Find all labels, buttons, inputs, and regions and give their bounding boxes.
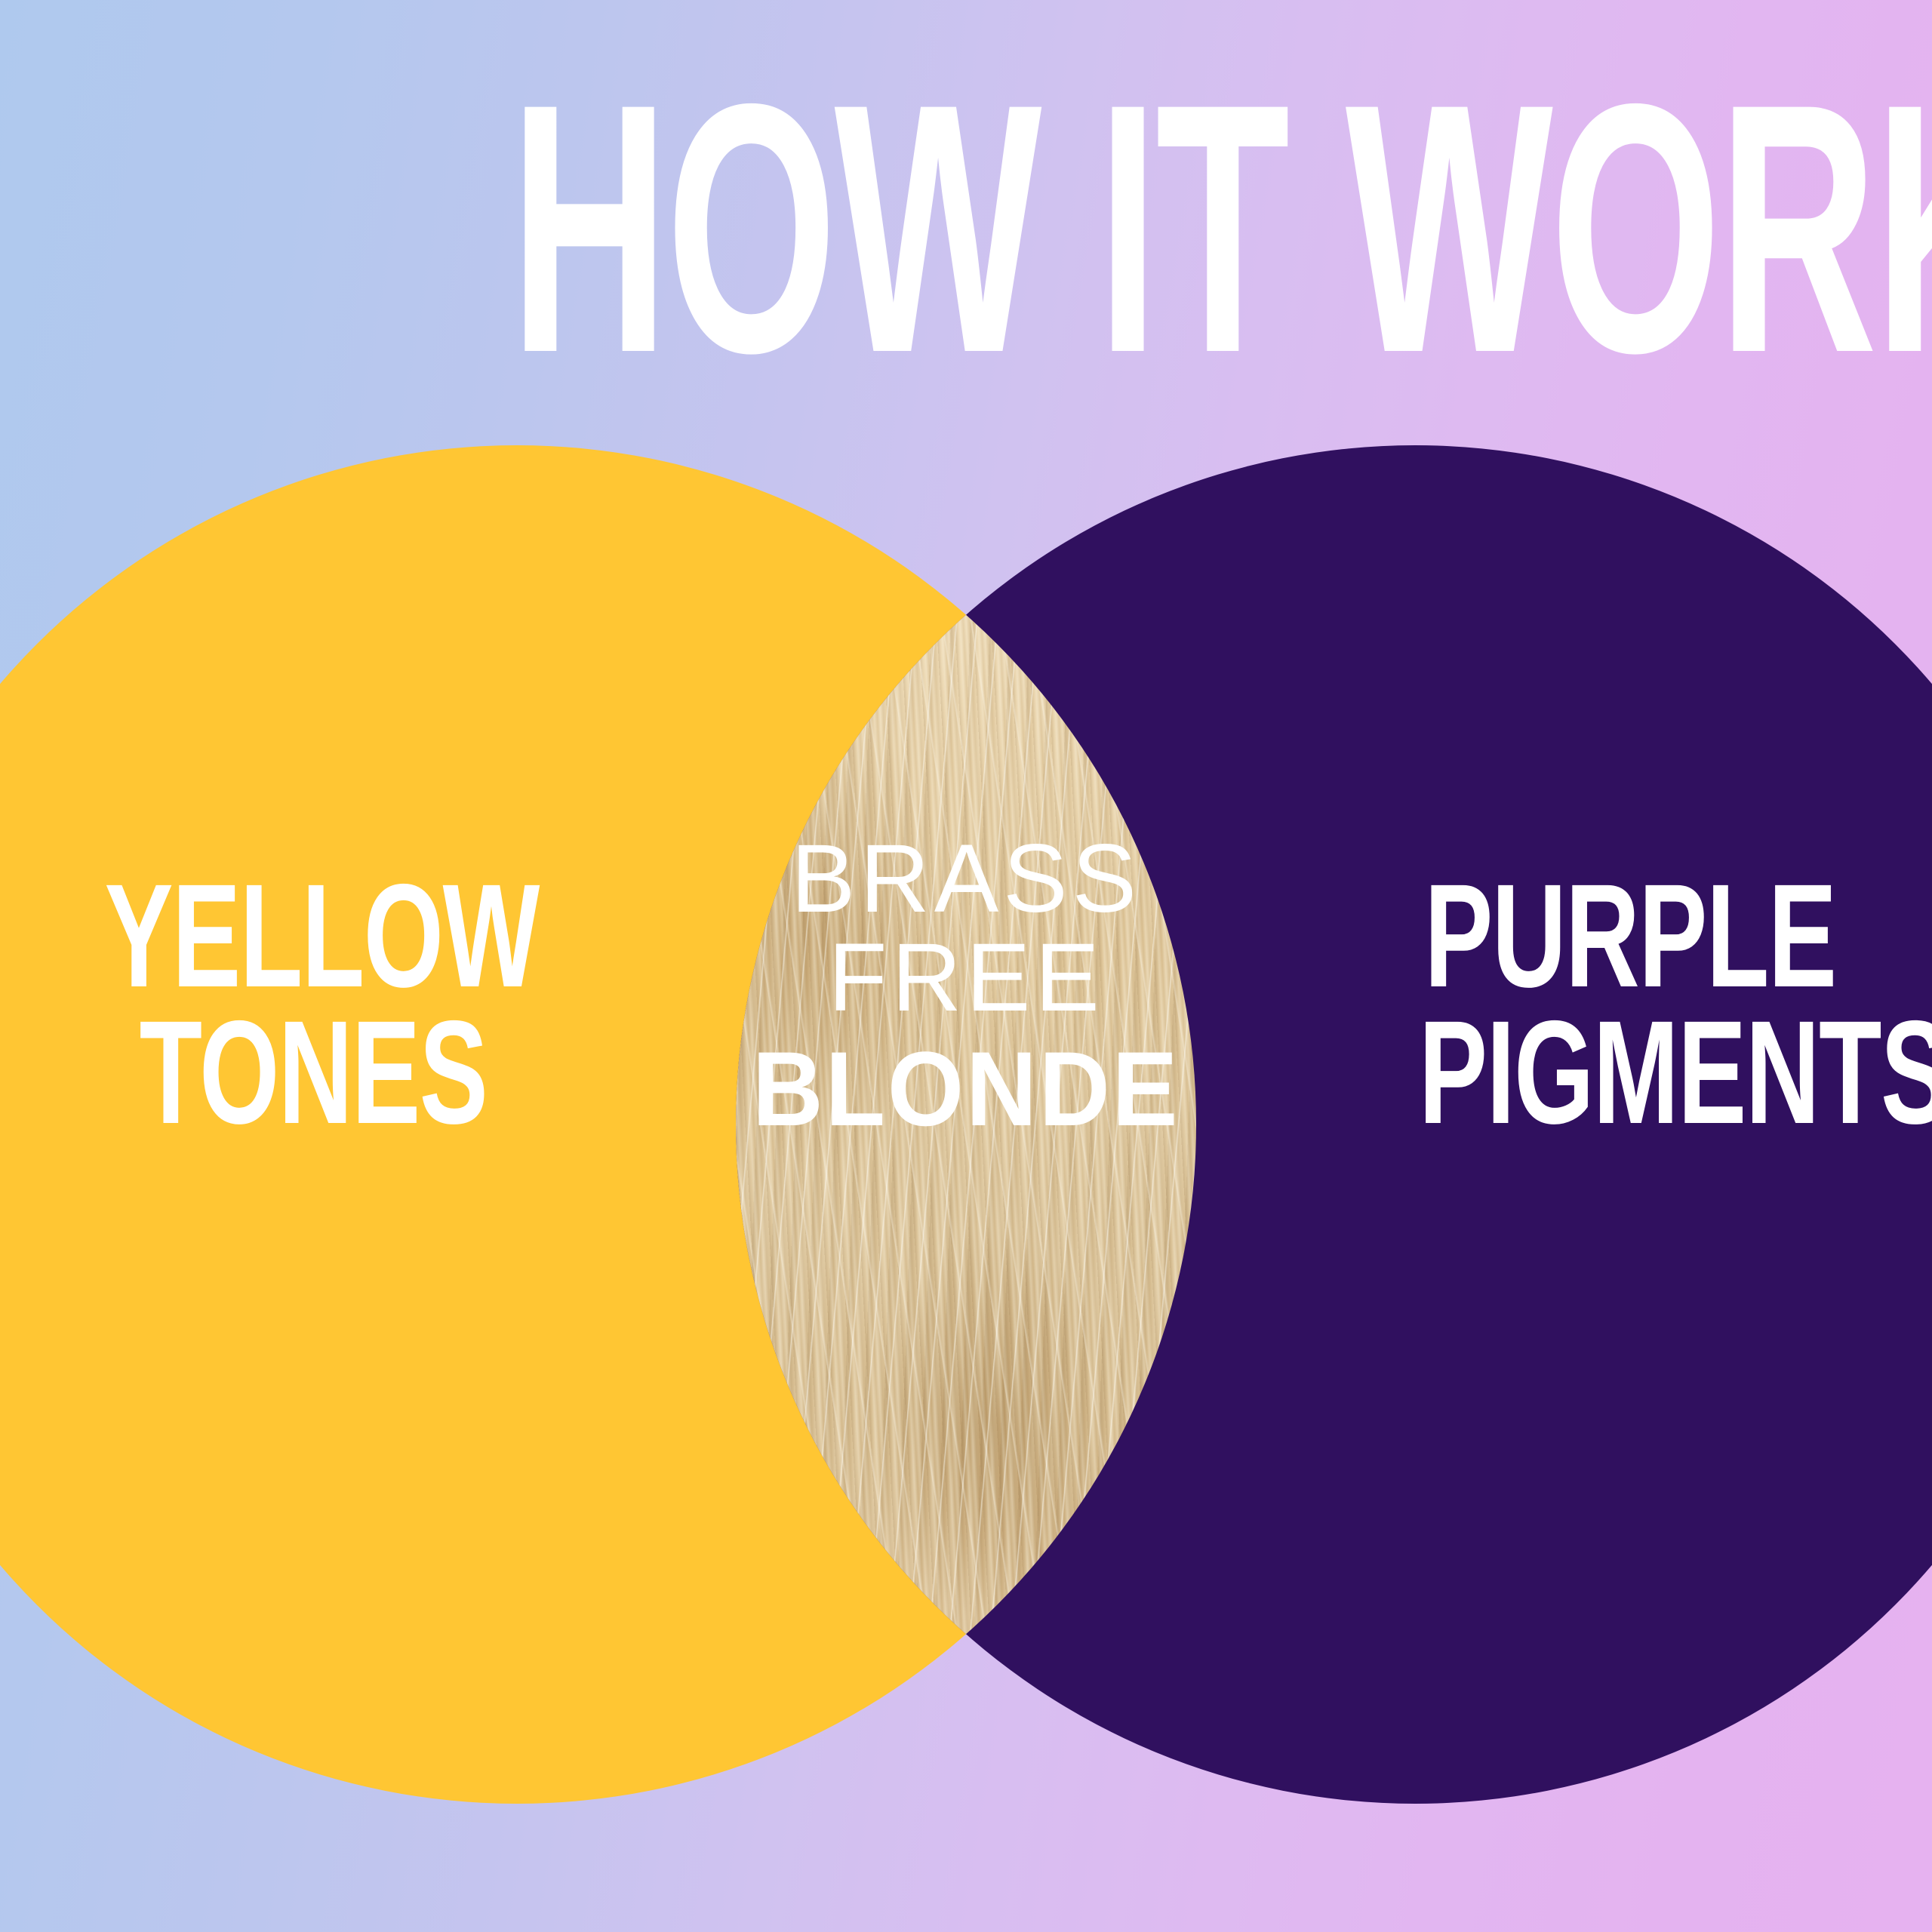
poster-canvas: HOW IT WORKS YELLOW TONES PURPLE PIGMENT… [0,0,1932,1932]
overlap-line-1: BRASS [679,830,1253,929]
venn-label-brass-free-blonde: BRASS FREE BLONDE [679,830,1253,1144]
overlap-line-2: FREE [679,929,1253,1028]
page-title: HOW IT WORKS [510,91,1932,368]
overlap-line-3: BLONDE [700,1033,1233,1144]
venn-label-yellow-tones: YELLOW TONES [105,868,522,1142]
venn-label-purple-pigments: PURPLE PIGMENTS [1419,868,1841,1142]
page-title-wrapper: HOW IT WORKS [0,91,1932,368]
